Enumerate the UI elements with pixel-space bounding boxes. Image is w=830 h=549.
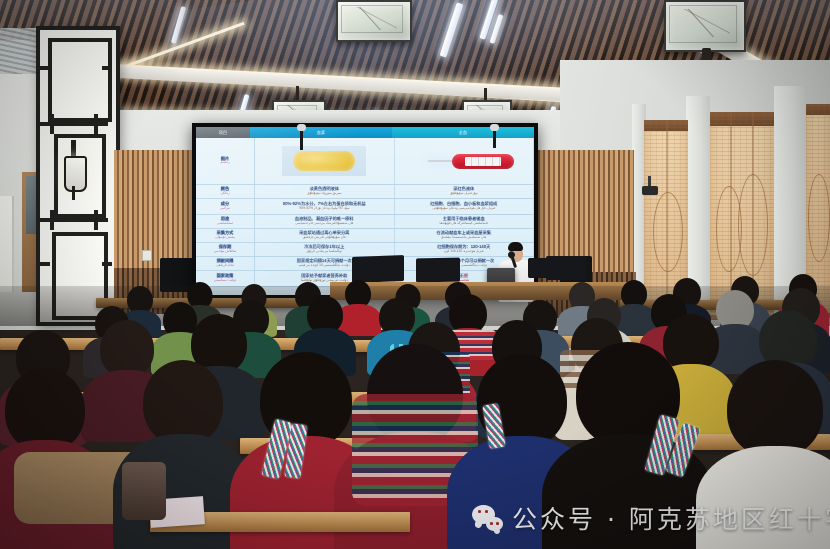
- plasma-bag-image: [282, 146, 366, 176]
- slide-row: 颜色 رەڭگى 淡黄色透明液体 سېرىق سۈزۈك سۇيۇقلۇق 深红…: [196, 185, 534, 199]
- slide-cell-whole: 深红色液体 توق قىزىل سۇيۇقلۇق: [395, 185, 535, 198]
- blood-bag-label: [465, 157, 501, 166]
- wall-sconce: [64, 156, 87, 192]
- lattice-bar-10: [102, 262, 112, 266]
- lattice-bar-9: [40, 262, 50, 266]
- security-camera: [640, 176, 660, 198]
- watermark-text: 公众号 · 阿克苏地区红十字会: [512, 500, 830, 536]
- slide-row: 成分 تەركىبى 90%-92%为水分，7%左右为蛋白质和无机盐 90%-9…: [196, 199, 534, 215]
- lantern-2: [664, 0, 742, 48]
- slide-row-key: 颜色 رەڭگى: [196, 185, 255, 198]
- mic-stand-head-right: [490, 124, 499, 131]
- wall-outlet: [142, 250, 152, 261]
- watermark: 公众号 · 阿克苏地区红十字会: [472, 500, 830, 536]
- blood-bag-tube: [428, 160, 454, 162]
- slide-row: 采集方式 يىغىش ئۇسۇلى 采血浆站通过离心单采分离 قان سۇيۇق…: [196, 229, 534, 243]
- wechat-icon: [472, 505, 503, 531]
- mic-stand-pole-right: [493, 128, 496, 148]
- slide-header-cell-plasma: 血浆: [250, 127, 392, 138]
- lantern-1: [336, 0, 408, 38]
- slide-cell-whole: 主要用于临床患者输血 ئاساسلىقى كېسەللەرگە قان قۇيۇ…: [395, 215, 535, 228]
- person-head: [727, 360, 823, 458]
- lattice-bar-7: [40, 66, 50, 70]
- slide-header-cell-whole: 全血: [392, 127, 534, 138]
- mic-stand-head-left: [297, 124, 306, 131]
- slide-row-image: 图片 رەسىم: [196, 138, 534, 185]
- slide-cell-whole-image: [395, 138, 535, 184]
- stage-monitor-1: [352, 255, 404, 283]
- blood-bag-image: [414, 148, 514, 174]
- blind-oval-motif-1: [653, 192, 683, 272]
- blood-bag-body: [452, 154, 514, 169]
- slide-row: 用途 ئىشلىتىلىشى 血液制品、凝血因子的唯一原料 قان مەھسۇل…: [196, 215, 534, 229]
- slide-row-key: 捐献间隔 ئىئانە ئارىلىقى: [196, 257, 255, 270]
- lattice-bar-2: [50, 114, 54, 134]
- slide-cell-plasma: 90%-92%为水分，7%左右为蛋白质和无机盐 90%-92% سۇ، 7% ب…: [255, 199, 395, 214]
- slide-cell-plasma: 冷冻后可保存1年以上 توڭلىتىلسا بىر يىلدىن ئارتۇق: [255, 243, 395, 256]
- conference-hall-photo: 项目 血浆 全血 图片 رەسىم: [0, 0, 830, 549]
- slide-row-key-image: 图片 رەسىم: [196, 138, 255, 184]
- lattice-bar-5: [50, 210, 54, 230]
- slide-row-key: 成分 تەركىبى: [196, 199, 255, 214]
- mic-stand-pole-left: [300, 128, 303, 150]
- slide-cell-plasma: 血液制品、凝血因子的唯一原料 قان مەھسۇلاتلىرىنىڭ بىردى…: [255, 215, 395, 228]
- slide-cell-plasma: 淡黄色透明液体 سېرىق سۈزۈك سۇيۇقلۇق: [255, 185, 395, 198]
- stage-monitor-2: [416, 258, 460, 283]
- slide-row-key: 采集方式 يىغىش ئۇسۇلى: [196, 229, 255, 242]
- presenter-hair: [508, 242, 523, 251]
- stage-laptop: [528, 258, 552, 278]
- camera-body: [642, 186, 658, 195]
- lattice-bar-8: [102, 66, 112, 70]
- slide-row-key: 用途 ئىشلىتىلىشى: [196, 215, 255, 228]
- blind-oval-motif-2b: [738, 174, 768, 276]
- slide-header-cell-item: 项目: [196, 127, 250, 138]
- slide-row-key: 保存期 ساقلاش مۇددىتى: [196, 243, 255, 256]
- handbag: [122, 462, 166, 520]
- slide-cell-whole: 红细胞、白细胞、血小板和血浆组成 قىزىل، ئاق قان ھۈجەيرىس…: [395, 199, 535, 214]
- sconce-stem: [72, 186, 75, 200]
- slide-table-header: 项目 血浆 全血: [196, 127, 534, 138]
- lattice-bar-3: [94, 114, 98, 134]
- lattice-panel-top: [48, 38, 112, 122]
- stage-monitor-3: [546, 256, 586, 280]
- chinese-lattice-screen: [36, 26, 120, 326]
- slide-cell-plasma-image: [255, 138, 395, 184]
- blind-oval-motif-3: [808, 174, 830, 262]
- lattice-bar-6: [94, 210, 98, 230]
- left-wall-frame-art: [0, 196, 14, 292]
- slide-cell-plasma: 采血浆站通过离心单采分离 قان سۇيۇقلۇقى ئايرىش ئارقىل…: [255, 229, 395, 242]
- slide-row: 保存期 ساقلاش مۇددىتى 冷冻后可保存1年以上 توڭلىتىلسا…: [196, 243, 534, 257]
